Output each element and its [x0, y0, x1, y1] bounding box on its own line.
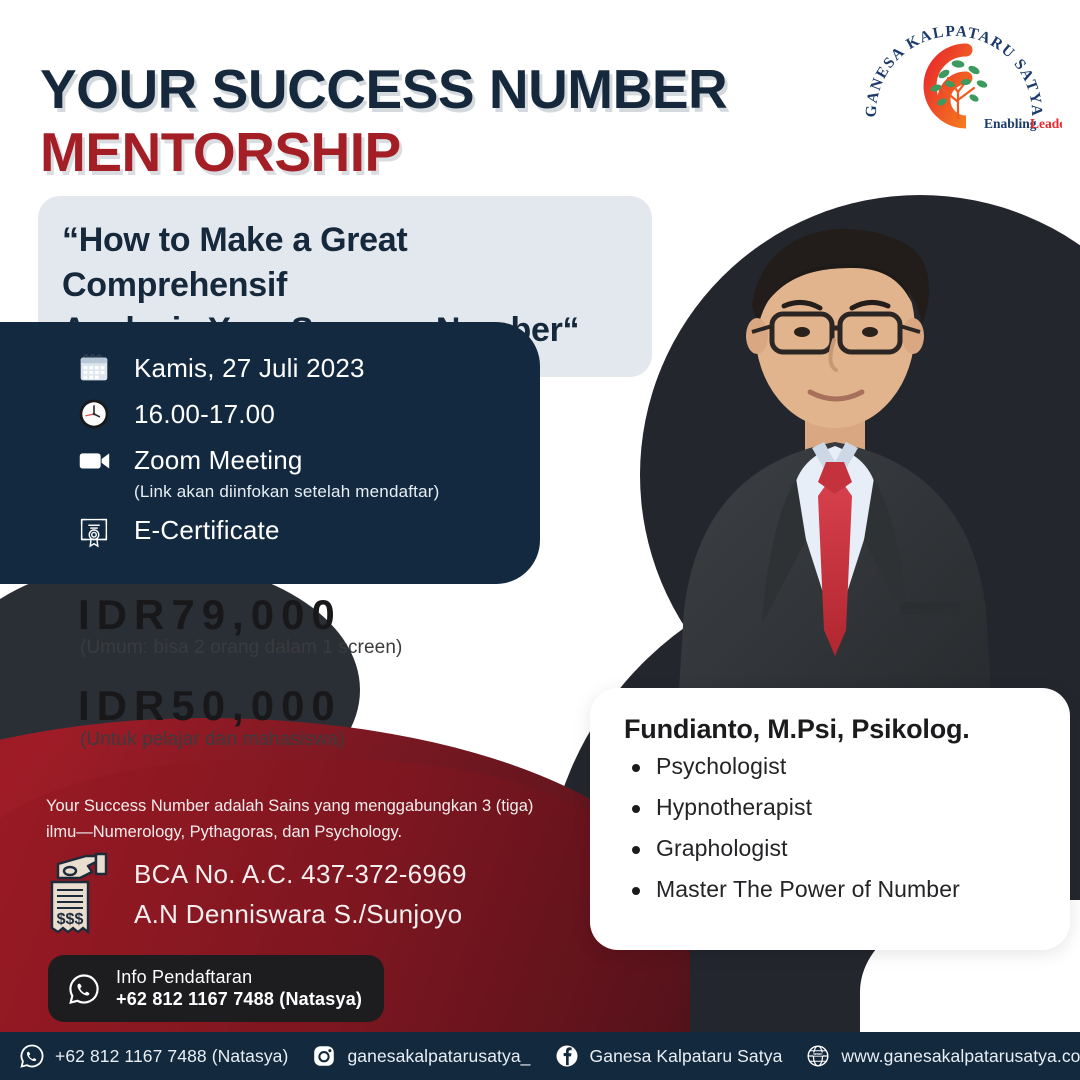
program-description: Your Success Number adalah Sains yang me…: [46, 794, 546, 845]
event-certificate: E-Certificate: [134, 508, 280, 552]
list-item: Psychologist: [624, 755, 1040, 778]
event-platform: Zoom Meeting: [134, 438, 303, 482]
svg-text:GANESA KALPATARU SATYA: GANESA KALPATARU SATYA: [863, 23, 1045, 118]
pricing-block: IDR79,000 (Umum: bisa 2 orang dalam 1 sc…: [78, 592, 402, 775]
event-time: 16.00-17.00: [134, 392, 275, 436]
speaker-name: Fundianto, M.Psi, Psikolog.: [624, 714, 1040, 745]
bank-text-lines: BCA No. A.C. 437-372-6969 A.N Denniswara…: [134, 854, 467, 935]
price-amount-general: IDR79,000: [78, 592, 402, 637]
detail-row-time: 16.00-17.00: [72, 392, 510, 436]
logo-tagline-2: Leaders: [1030, 116, 1062, 131]
footer-item-instagram[interactable]: ganesakalpatarusatya_: [310, 1042, 530, 1070]
detail-row-date: Kamis, 27 Juli 2023: [72, 346, 510, 390]
logo-tagline-1: Enabling: [984, 116, 1037, 131]
footer-bar: +62 812 1167 7488 (Natasya) ganesakalpat…: [0, 1032, 1080, 1080]
event-platform-note: (Link akan diinfokan setelah mendaftar): [134, 482, 510, 502]
speaker-card: Fundianto, M.Psi, Psikolog. Psychologist…: [590, 688, 1070, 950]
registration-contact-pill[interactable]: Info Pendaftaran +62 812 1167 7488 (Nata…: [48, 955, 384, 1022]
receipt-dollar-label: $$$: [57, 911, 84, 928]
detail-row-certificate: E-Certificate: [72, 508, 510, 552]
speaker-photo: [600, 210, 1070, 770]
price-amount-student: IDR50,000: [78, 683, 402, 728]
list-item: Hypnotherapist: [624, 796, 1040, 819]
registration-texts: Info Pendaftaran +62 812 1167 7488 (Nata…: [116, 967, 362, 1010]
event-details-panel: Kamis, 27 Juli 2023 16.00-17.00: [0, 322, 540, 584]
logo-arc-text: GANESA KALPATARU SATYA: [863, 23, 1045, 118]
registration-phone: +62 812 1167 7488 (Natasya): [116, 989, 362, 1010]
globe-icon: www.: [804, 1042, 832, 1070]
footer-item-website[interactable]: www. www.ganesakalpatarusatya.com: [804, 1042, 1080, 1070]
price-note-general: (Umum: bisa 2 orang dalam 1 screen): [80, 637, 402, 659]
list-item: Master The Power of Number: [624, 878, 1040, 901]
poster-canvas: YOUR SUCCESS NUMBER MENTORSHIP “How to M…: [0, 0, 1080, 1080]
footer-whatsapp-text: +62 812 1167 7488 (Natasya): [55, 1046, 288, 1067]
quote-line-1: “How to Make a Great Comprehensif: [62, 218, 624, 308]
poster-title: YOUR SUCCESS NUMBER MENTORSHIP: [40, 62, 727, 180]
event-date: Kamis, 27 Juli 2023: [134, 346, 365, 390]
bank-account-block: $$$ BCA No. A.C. 437-372-6969 A.N Dennis…: [42, 848, 467, 940]
footer-facebook-text: Ganesa Kalpataru Satya: [590, 1046, 783, 1067]
facebook-icon: [553, 1042, 581, 1070]
list-item: Graphologist: [624, 837, 1040, 860]
instagram-icon: [310, 1042, 338, 1070]
footer-item-whatsapp[interactable]: +62 812 1167 7488 (Natasya): [18, 1042, 288, 1070]
registration-label: Info Pendaftaran: [116, 967, 362, 988]
speaker-credentials-list: Psychologist Hypnotherapist Graphologist…: [624, 755, 1040, 901]
detail-row-platform: Zoom Meeting: [72, 438, 510, 482]
organization-logo: GANESA KALPATARU SATYA Enabling Leaders: [862, 22, 1062, 152]
footer-website-text: www.ganesakalpatarusatya.com: [841, 1046, 1080, 1067]
price-note-student: (Untuk pelajar dan mahasiswa): [80, 729, 402, 751]
bank-account-name: A.N Denniswara S./Sunjoyo: [134, 894, 467, 934]
money-receipt-icon: $$$: [42, 848, 120, 940]
footer-item-facebook[interactable]: Ganesa Kalpataru Satya: [553, 1042, 783, 1070]
title-line-1: YOUR SUCCESS NUMBER: [40, 62, 727, 117]
footer-instagram-text: ganesakalpatarusatya_: [347, 1046, 530, 1067]
whatsapp-icon: [66, 971, 102, 1007]
calendar-icon: [72, 346, 116, 390]
certificate-icon: [72, 508, 116, 552]
clock-icon: [72, 392, 116, 436]
video-camera-icon: [72, 438, 116, 482]
bank-account-number: BCA No. A.C. 437-372-6969: [134, 854, 467, 894]
svg-text:www.: www.: [813, 1052, 823, 1056]
whatsapp-icon: [18, 1042, 46, 1070]
title-line-2: MENTORSHIP: [40, 125, 727, 180]
